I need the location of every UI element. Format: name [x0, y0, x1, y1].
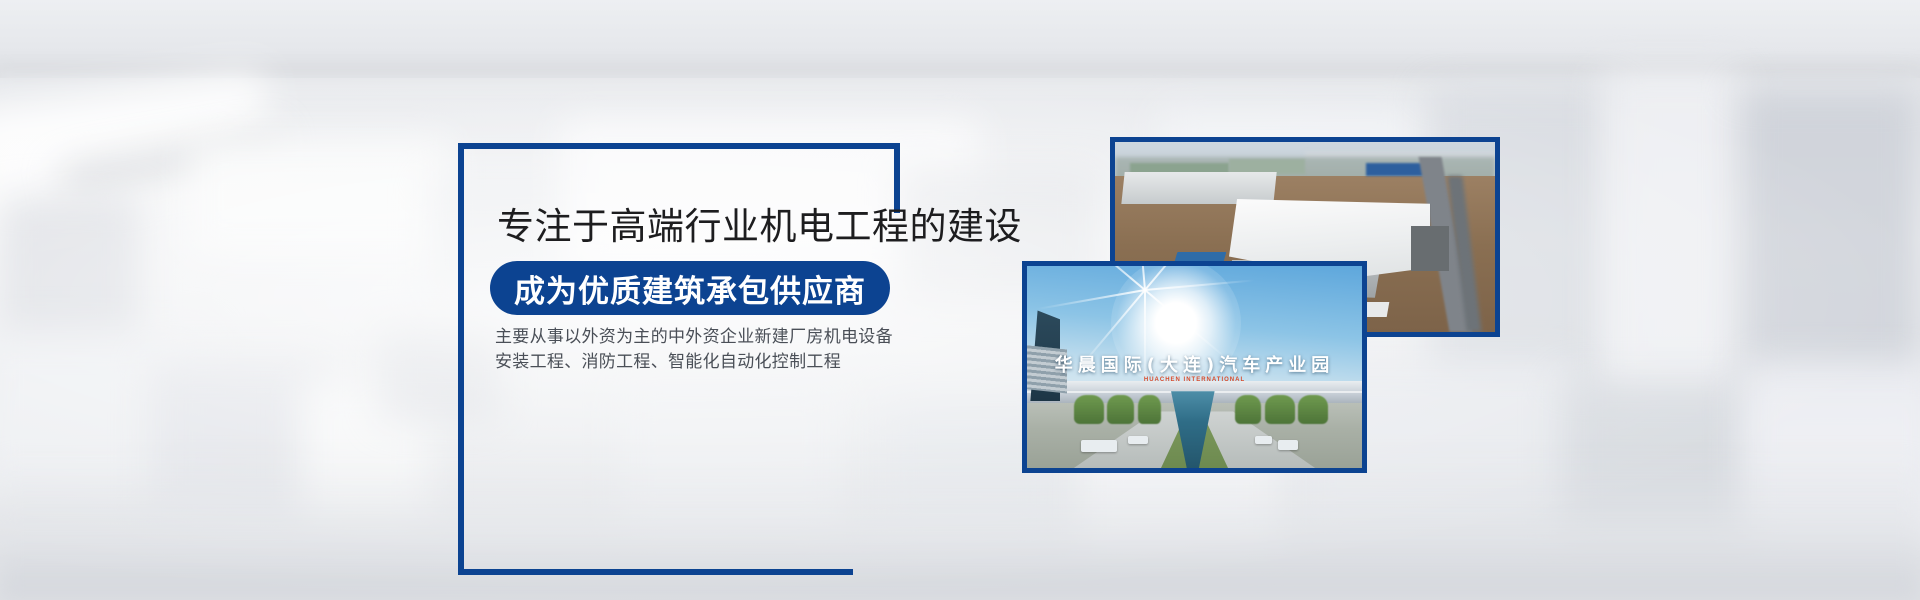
gate-tree [1074, 395, 1104, 423]
frame-bottom-border [458, 569, 853, 575]
hero-banner: 专注于高端行业机电工程的建设 成为优质建筑承包供应商 主要从事以外资为主的中外资… [0, 0, 1920, 600]
gate-sign-text: 华晨国际(大连)汽车产业园 [1027, 351, 1362, 377]
gate-tree [1298, 395, 1328, 423]
gate-tree [1138, 395, 1161, 423]
gate-tree [1265, 395, 1295, 423]
gate-vehicle [1278, 440, 1298, 450]
frame-top-border [458, 143, 900, 149]
gate-vehicle [1128, 436, 1148, 444]
gate-tree [1107, 395, 1134, 423]
gate-bus [1081, 440, 1118, 452]
gate-sign-subtext: HUACHEN INTERNATIONAL [1027, 377, 1362, 383]
aerial-annex-block [1411, 226, 1449, 272]
industrial-park-gate-image: 华晨国际(大连)汽车产业园 HUACHEN INTERNATIONAL [1027, 266, 1362, 468]
banner-subtitle-line-1: 主要从事以外资为主的中外资企业新建厂房机电设备 [495, 325, 925, 350]
gate-tree [1235, 395, 1262, 423]
frame-left-border [458, 143, 464, 575]
banner-slogan-badge: 成为优质建筑承包供应商 [490, 261, 890, 315]
banner-headline: 专注于高端行业机电工程的建设 [497, 200, 1022, 254]
banner-subtitle-line-2: 安装工程、消防工程、智能化自动化控制工程 [495, 350, 925, 375]
background-highlight [0, 78, 1920, 600]
industrial-park-gate-photo: 华晨国际(大连)汽车产业园 HUACHEN INTERNATIONAL [1022, 261, 1367, 473]
banner-subtitle: 主要从事以外资为主的中外资企业新建厂房机电设备 安装工程、消防工程、智能化自动化… [495, 325, 925, 375]
aerial-blue-building [1366, 163, 1427, 176]
gate-vehicle [1255, 436, 1272, 444]
banner-slogan-text: 成为优质建筑承包供应商 [514, 266, 866, 311]
